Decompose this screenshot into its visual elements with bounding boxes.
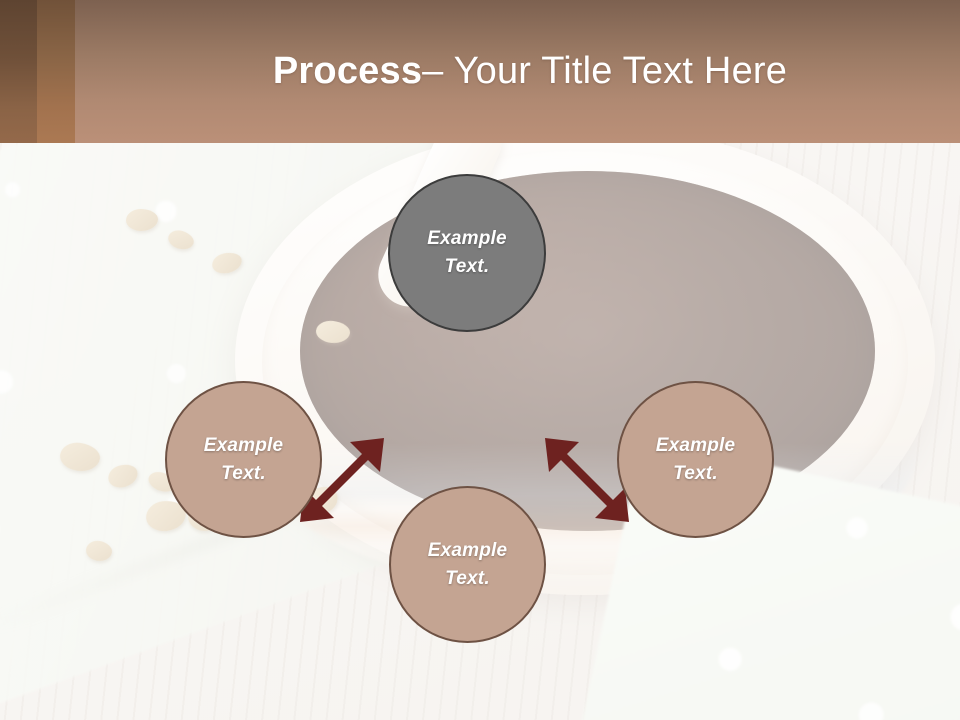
- diagram-node-center[interactable]: Example Text.: [388, 174, 546, 332]
- node-right-line2: Text.: [673, 460, 718, 488]
- accent-band-medium: [37, 0, 75, 143]
- page-title-rest: – Your Title Text Here: [422, 50, 787, 93]
- process-diagram: Example Text. Example Text. Example Text…: [0, 143, 960, 720]
- node-left-line1: Example: [204, 432, 284, 460]
- slide-header-band: Process – Your Title Text Here: [0, 0, 960, 143]
- accent-band-dark: [0, 0, 37, 143]
- diagram-node-left[interactable]: Example Text.: [165, 381, 322, 538]
- node-bottom-line2: Text.: [445, 565, 490, 593]
- presentation-slide: Process – Your Title Text Here: [0, 0, 960, 720]
- node-center-line1: Example: [427, 225, 507, 253]
- node-bottom-line1: Example: [428, 537, 508, 565]
- page-title-strong: Process: [273, 50, 422, 93]
- diagram-node-right[interactable]: Example Text.: [617, 381, 774, 538]
- node-center-line2: Text.: [445, 253, 490, 281]
- node-right-line1: Example: [656, 432, 736, 460]
- node-left-line2: Text.: [221, 460, 266, 488]
- diagram-node-bottom[interactable]: Example Text.: [389, 486, 546, 643]
- page-title: Process – Your Title Text Here: [120, 0, 940, 143]
